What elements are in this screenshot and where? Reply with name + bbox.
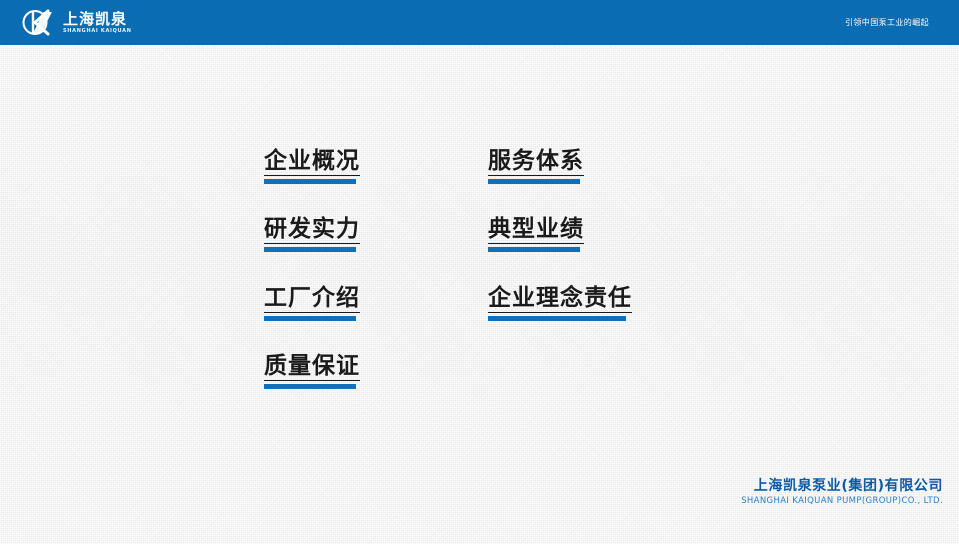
menu-item-accent-rule (488, 179, 580, 184)
menu-item-accent-rule (488, 247, 580, 252)
footer-company-name-cn: 上海凯泉泵业(集团)有限公司 (741, 479, 943, 494)
menu-item-label: 服务体系 (488, 148, 584, 176)
logo-name-cn: 上海凯泉 (63, 12, 132, 27)
menu-item-typical-performance[interactable]: 典型业绩 (488, 216, 584, 252)
menu-item-accent-rule (264, 247, 356, 252)
menu-item-rd-strength[interactable]: 研发实力 (264, 216, 360, 252)
menu-item-label: 典型业绩 (488, 216, 584, 244)
kaiquan-k-monogram-icon (22, 7, 58, 38)
menu-item-factory-introduction[interactable]: 工厂介绍 (264, 285, 360, 321)
menu-item-company-overview[interactable]: 企业概况 (264, 148, 360, 184)
presentation-slide: 上海凯泉 SHANGHAI KAIQUAN 引领中国泵工业的崛起 企业概况 研发… (0, 0, 959, 544)
menu-item-label: 企业理念责任 (488, 285, 632, 313)
header-bar: 上海凯泉 SHANGHAI KAIQUAN 引领中国泵工业的崛起 (0, 0, 959, 45)
menu-item-corporate-philosophy-responsibility[interactable]: 企业理念责任 (488, 285, 632, 321)
logo-wordmark: 上海凯泉 SHANGHAI KAIQUAN (63, 12, 132, 34)
menu-item-label: 研发实力 (264, 216, 360, 244)
menu-item-quality-assurance[interactable]: 质量保证 (264, 353, 360, 389)
menu-item-accent-rule (488, 316, 626, 321)
footer-company-brand: 上海凯泉泵业(集团)有限公司 SHANGHAI KAIQUAN PUMP(GRO… (741, 479, 943, 506)
menu-item-accent-rule (264, 384, 356, 389)
header-slogan: 引领中国泵工业的崛起 (845, 0, 929, 45)
menu-item-accent-rule (264, 179, 356, 184)
footer-company-name-en: SHANGHAI KAIQUAN PUMP(GROUP)CO., LTD. (741, 497, 943, 506)
brand-logo: 上海凯泉 SHANGHAI KAIQUAN (22, 6, 142, 39)
logo-name-en: SHANGHAI KAIQUAN (63, 29, 132, 34)
menu-item-label: 企业概况 (264, 148, 360, 176)
menu-item-service-system[interactable]: 服务体系 (488, 148, 584, 184)
menu-item-accent-rule (264, 316, 356, 321)
menu-item-label: 质量保证 (264, 353, 360, 381)
menu-item-label: 工厂介绍 (264, 285, 360, 313)
